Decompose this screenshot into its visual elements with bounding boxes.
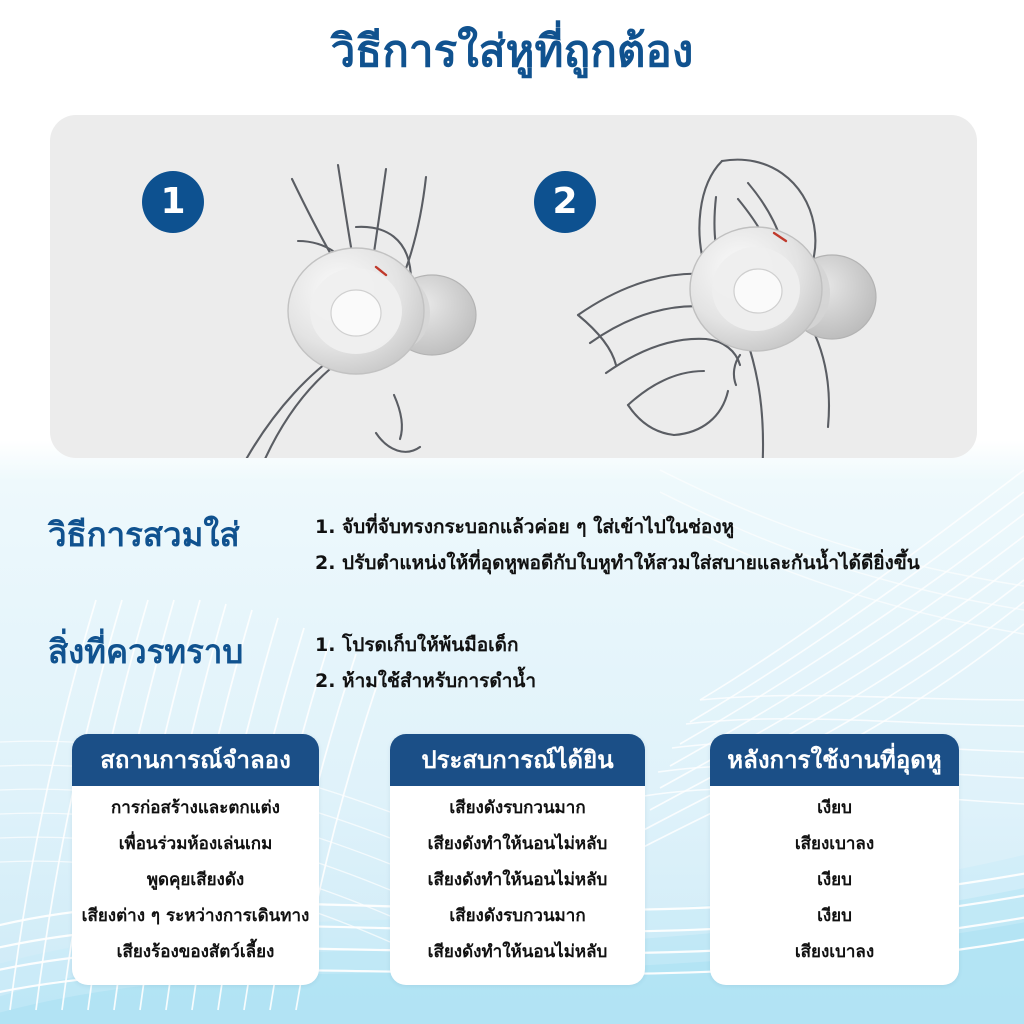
table-row: เสียงร้องของสัตว์เลี้ยง	[78, 944, 313, 961]
how-to-wear-list: 1. จับที่จับทรงกระบอกแล้วค่อย ๆ ใส่เข้าไ…	[315, 518, 920, 590]
column-header: สถานการณ์จำลอง	[72, 734, 319, 786]
comparison-column-after-use: หลังการใช้งานที่อุดหู เงียบ เสียงเบาลง เ…	[710, 734, 959, 985]
column-body: การก่อสร้างและตกแต่ง เพื่อนร่วมห้องเล่นเ…	[72, 786, 319, 961]
column-body: เสียงดังรบกวนมาก เสียงดังทำให้นอนไม่หลับ…	[390, 786, 645, 961]
comparison-column-hearing-experience: ประสบการณ์ได้ยิน เสียงดังรบกวนมาก เสียงด…	[390, 734, 645, 985]
table-row: เสียงดังทำให้นอนไม่หลับ	[396, 836, 639, 853]
table-row: เสียงต่าง ๆ ระหว่างการเดินทาง	[78, 908, 313, 925]
table-row: เสียงเบาลง	[716, 836, 953, 853]
step-2-artwork	[570, 137, 920, 458]
section-heading-how-to-wear: วิธีการสวมใส่	[48, 508, 240, 561]
how-to-wear-item: 2. ปรับตำแหน่งให้ที่อุดหูพอดีกับใบหูทำให…	[315, 554, 920, 573]
infographic-root: วิธีการใส่หูที่ถูกต้อง	[0, 0, 1024, 1024]
section-heading-good-to-know: สิ่งที่ควรทราบ	[48, 625, 243, 678]
step-badge-1: 1	[142, 171, 204, 233]
step-badge-2: 2	[534, 171, 596, 233]
earplug-fitting-illustration: 1 2	[50, 115, 977, 458]
comparison-column-scenario: สถานการณ์จำลอง การก่อสร้างและตกแต่ง เพื่…	[72, 734, 319, 985]
step-1-artwork	[180, 145, 520, 458]
column-header: ประสบการณ์ได้ยิน	[390, 734, 645, 786]
table-row: เสียงดังทำให้นอนไม่หลับ	[396, 944, 639, 961]
column-header: หลังการใช้งานที่อุดหู	[710, 734, 959, 786]
table-row: เสียงเบาลง	[716, 944, 953, 961]
table-row: พูดคุยเสียงดัง	[78, 872, 313, 889]
good-to-know-item: 1. โปรดเก็บให้พ้นมือเด็ก	[315, 636, 536, 655]
table-row: เงียบ	[716, 908, 953, 925]
table-row: เสียงดังทำให้นอนไม่หลับ	[396, 872, 639, 889]
table-row: เสียงดังรบกวนมาก	[396, 908, 639, 925]
good-to-know-item: 2. ห้ามใช้สำหรับการดำน้ำ	[315, 672, 536, 691]
comparison-table: สถานการณ์จำลอง การก่อสร้างและตกแต่ง เพื่…	[0, 734, 1024, 992]
table-row: เงียบ	[716, 872, 953, 889]
good-to-know-list: 1. โปรดเก็บให้พ้นมือเด็ก 2. ห้ามใช้สำหรั…	[315, 636, 536, 708]
table-row: เงียบ	[716, 800, 953, 817]
column-body: เงียบ เสียงเบาลง เงียบ เงียบ เสียงเบาลง	[710, 786, 959, 961]
table-row: เสียงดังรบกวนมาก	[396, 800, 639, 817]
table-row: เพื่อนร่วมห้องเล่นเกม	[78, 836, 313, 853]
page-title: วิธีการใส่หูที่ถูกต้อง	[0, 16, 1024, 86]
table-row: การก่อสร้างและตกแต่ง	[78, 800, 313, 817]
how-to-wear-item: 1. จับที่จับทรงกระบอกแล้วค่อย ๆ ใส่เข้าไ…	[315, 518, 920, 537]
